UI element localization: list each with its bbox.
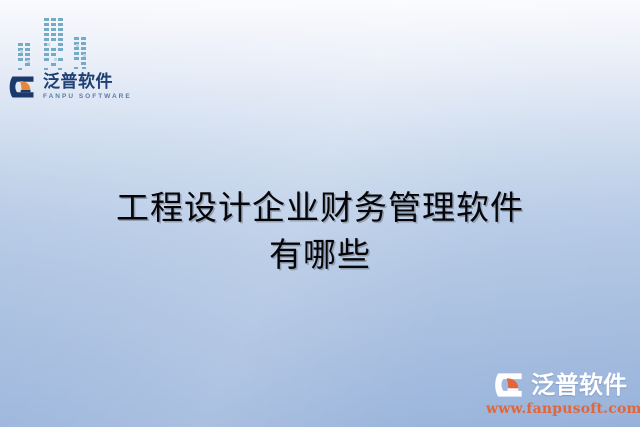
brand-name-cn: 泛普软件	[43, 74, 132, 91]
pixel-buildings-graphic	[14, 16, 96, 74]
promo-banner: 泛普软件 FANPU SOFTWARE 工程设计企业财务管理软件 有哪些 泛普软…	[0, 0, 640, 427]
brand-logo: 泛普软件 FANPU SOFTWARE	[8, 72, 132, 102]
brand-name-en: FANPU SOFTWARE	[43, 94, 132, 101]
page-title: 工程设计企业财务管理软件 有哪些	[0, 185, 640, 279]
fanpu-swoosh-logo-icon	[8, 72, 38, 102]
watermark-brand-name: 泛普软件	[531, 373, 627, 397]
watermark-url: www.fanpusoft.com	[486, 401, 634, 417]
watermark: 泛普软件 www.fanpusoft.com	[486, 370, 634, 417]
watermark-fanpu-swoosh-logo-icon	[493, 370, 527, 400]
